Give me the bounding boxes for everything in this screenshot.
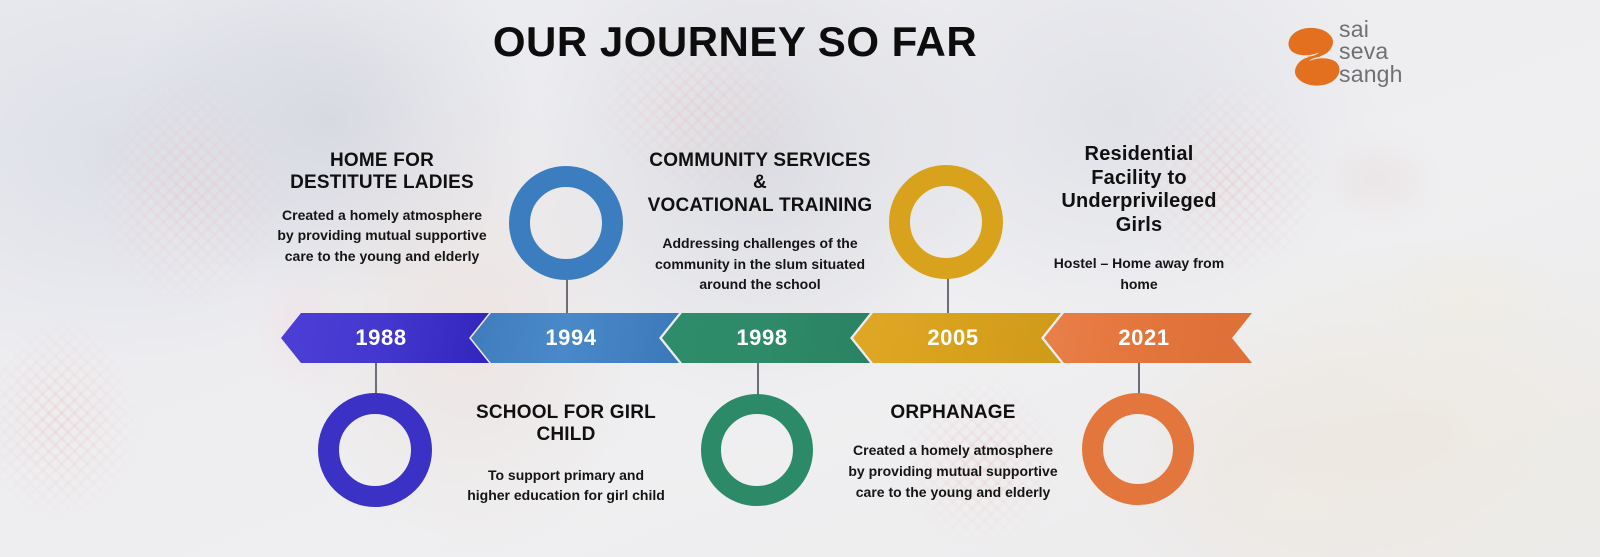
milestone-text-1988: HOME FOR DESTITUTE LADIES Created a home…: [277, 150, 487, 267]
milestone-heading-1998: COMMUNITY SERVICES & VOCATIONAL TRAINING: [640, 150, 880, 217]
connector-stem-2005: [947, 274, 949, 316]
infographic-canvas: OUR JOURNEY SO FAR sai seva sangh HOME F…: [0, 0, 1600, 557]
milestone-heading-2021: Residential Facility to Underprivileged …: [1036, 143, 1242, 237]
timeline-year-1988: 1988: [355, 325, 406, 351]
timeline-chevron-2005[interactable]: 2005: [853, 313, 1061, 363]
logo-word-sangh: sangh: [1339, 63, 1403, 85]
logo-word-sai: sai: [1339, 18, 1403, 40]
milestone-description-2021: Hostel – Home away from home: [1036, 253, 1242, 294]
milestone-description-2005: Created a homely atmosphere by providing…: [848, 440, 1058, 502]
timeline-year-2005: 2005: [927, 325, 978, 351]
milestone-text-2021: Residential Facility to Underprivileged …: [1036, 143, 1242, 295]
milestone-description-1998: Addressing challenges of the community i…: [640, 233, 880, 295]
milestone-ring-1998: [701, 394, 813, 506]
milestone-heading-1988: HOME FOR DESTITUTE LADIES: [277, 150, 487, 195]
sai-seva-sangh-logo: sai seva sangh: [1283, 18, 1433, 96]
milestone-ring-1994: [509, 166, 623, 280]
logo-word-seva: seva: [1339, 40, 1403, 62]
logo-wordmark: sai seva sangh: [1339, 18, 1403, 85]
timeline-year-2021: 2021: [1118, 325, 1169, 351]
milestone-ring-2005: [889, 165, 1003, 279]
milestone-text-1998: COMMUNITY SERVICES & VOCATIONAL TRAINING…: [640, 150, 880, 295]
page-title: OUR JOURNEY SO FAR: [0, 18, 1470, 66]
milestone-description-1994: To support primary and higher education …: [466, 465, 666, 506]
timeline-bar: 1988 1994 1998 2005 2021: [281, 313, 1233, 363]
timeline-chevron-1998[interactable]: 1998: [662, 313, 870, 363]
milestone-description-1988: Created a homely atmosphere by providing…: [277, 205, 487, 267]
milestone-heading-2005: ORPHANAGE: [848, 402, 1058, 424]
timeline-year-1994: 1994: [545, 325, 596, 351]
timeline-year-1998: 1998: [736, 325, 787, 351]
connector-stem-1988: [375, 360, 377, 397]
connector-stem-2021: [1138, 360, 1140, 397]
milestone-text-1994: SCHOOL FOR GIRL CHILD To support primary…: [466, 402, 666, 506]
milestone-text-2005: ORPHANAGE Created a homely atmosphere by…: [848, 402, 1058, 502]
milestone-ring-1988: [318, 393, 432, 507]
connector-stem-1998: [757, 360, 759, 397]
milestone-heading-1994: SCHOOL FOR GIRL CHILD: [466, 402, 666, 447]
milestone-ring-2021: [1082, 393, 1194, 505]
timeline-chevron-1988[interactable]: 1988: [281, 313, 489, 363]
timeline-chevron-1994[interactable]: 1994: [471, 313, 679, 363]
timeline-chevron-2021[interactable]: 2021: [1044, 313, 1252, 363]
connector-stem-1994: [566, 274, 568, 316]
